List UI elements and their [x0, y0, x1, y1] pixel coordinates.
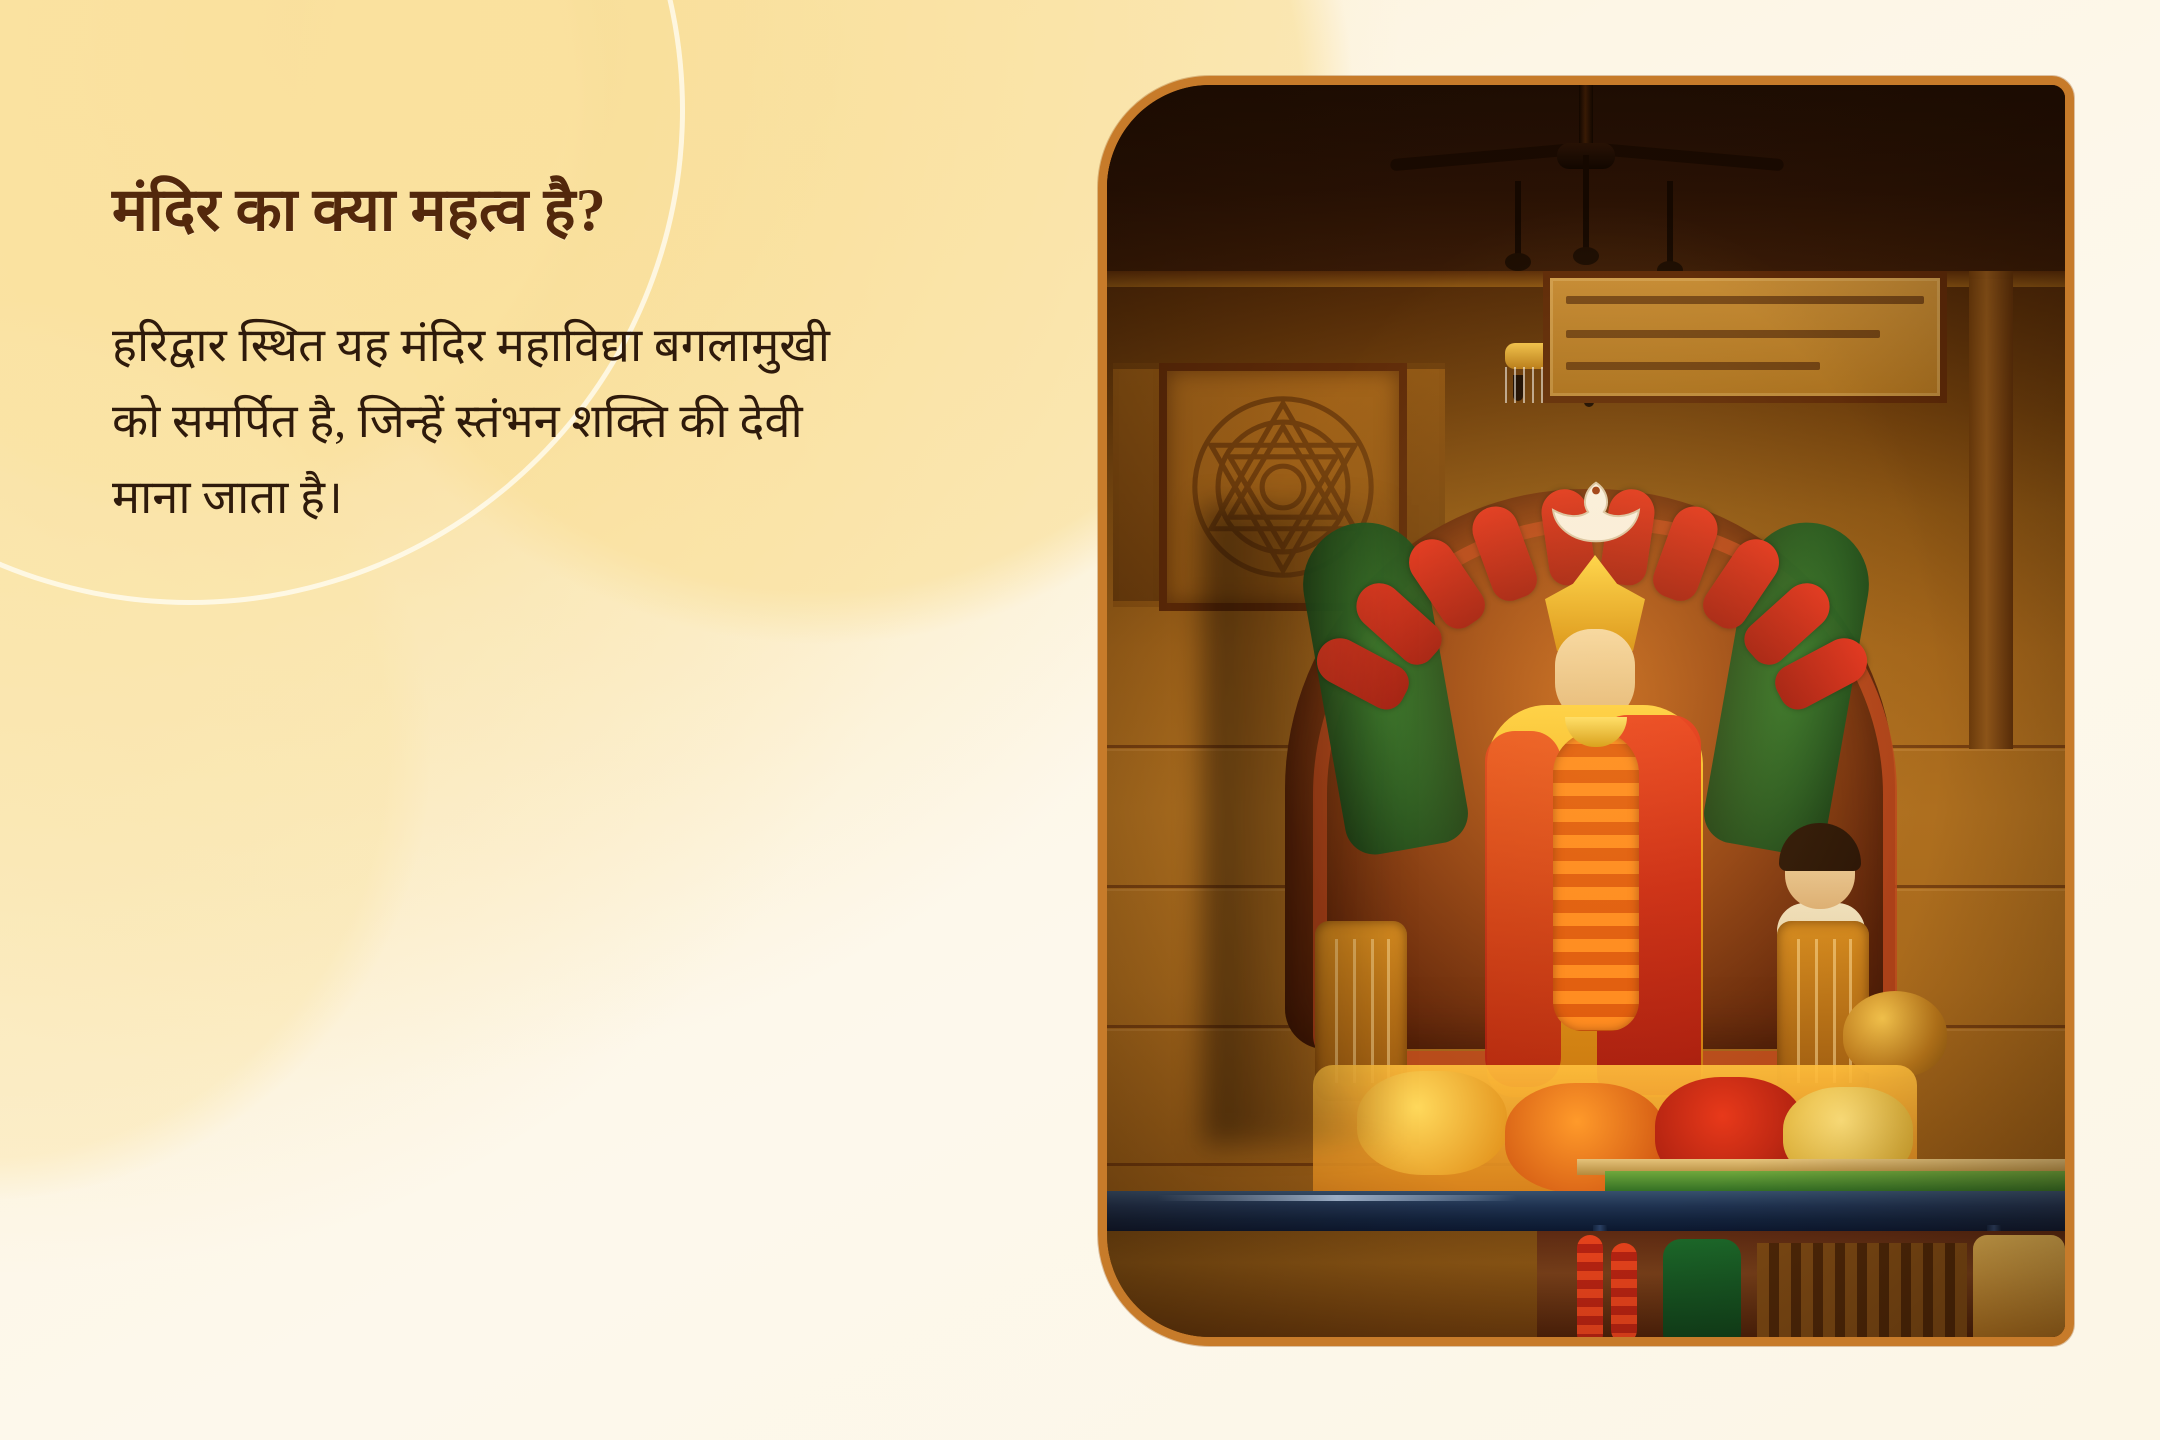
baglamukhi-idol — [1479, 555, 1711, 1095]
temple-photo-frame — [1098, 76, 2074, 1346]
sanskrit-wall-plaque — [1543, 271, 1947, 403]
green-cloth — [1663, 1239, 1741, 1337]
blue-metal-railing — [1107, 1191, 2065, 1231]
idol-sari-left — [1485, 731, 1561, 1087]
wall-pilaster — [1969, 271, 2013, 749]
attendant-hair — [1779, 823, 1861, 871]
marigold-strand — [1577, 1235, 1603, 1337]
page-title: मंदिर का क्या महत्व है? — [112, 175, 1012, 246]
body-paragraph: हरिद्वार स्थित यह मंदिर महाविद्या बगलामु… — [112, 308, 832, 536]
yellow-drape — [1973, 1235, 2065, 1337]
swan-crest-icon — [1537, 469, 1655, 551]
marigold-strand — [1611, 1243, 1637, 1337]
carved-side-pillar — [1113, 363, 1159, 607]
bell-rod — [1583, 155, 1589, 259]
wooden-grill — [1757, 1243, 1967, 1337]
wall-shadow — [1203, 505, 1403, 1145]
idol-marigold-garland — [1553, 731, 1639, 1031]
poster-canvas: मंदिर का क्या महत्व है? हरिद्वार स्थित य… — [0, 0, 2160, 1440]
railing-highlight — [1157, 1195, 1517, 1201]
ceiling-fan-rod — [1579, 85, 1593, 149]
temple-photo — [1107, 85, 2065, 1337]
bell-rod — [1667, 181, 1673, 273]
green-rail — [1605, 1171, 2065, 1193]
text-column: मंदिर का क्या महत्व है? हरिद्वार स्थित य… — [112, 175, 1012, 536]
